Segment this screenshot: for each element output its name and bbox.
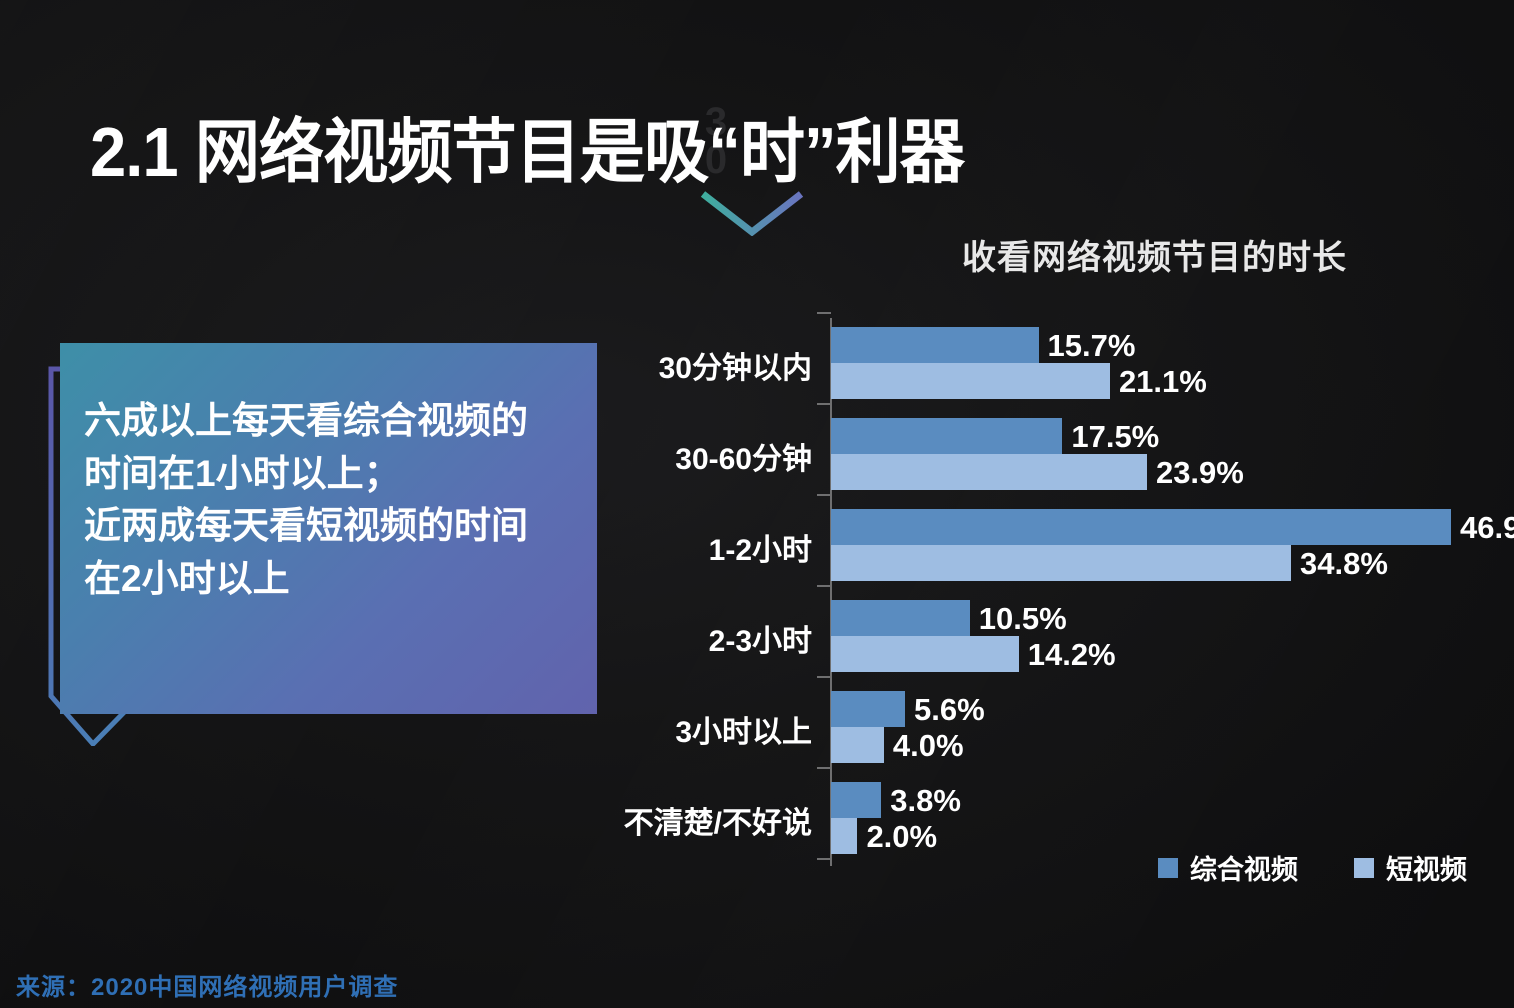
callout-text: 六成以上每天看综合视频的 时间在1小时以上； 近两成每天看短视频的时间 在2小时… — [84, 395, 584, 605]
chart-axis-tick — [817, 494, 831, 496]
chart-bar — [831, 363, 1110, 399]
chart-axis-tick — [817, 403, 831, 405]
chart-axis-tick — [817, 767, 831, 769]
chart-category-label: 30-60分钟 — [552, 434, 812, 478]
chart-legend-item[interactable]: 短视频 — [1354, 848, 1467, 887]
slide-canvas: 30 2.1 网络视频节目是吸“时”利器 六成以上每天看综合视频的 时间在1小时… — [0, 0, 1514, 1008]
legend-swatch-icon — [1354, 858, 1374, 878]
chart-category-label: 1-2小时 — [552, 525, 812, 569]
chart-bar-value-label: 10.5% — [979, 603, 1067, 634]
chart-axis-tick — [817, 858, 831, 860]
bar-chart: 30分钟以内15.7%21.1%30-60分钟17.5%23.9%1-2小时46… — [630, 318, 1510, 866]
chart-bar — [831, 600, 970, 636]
chart-bar — [831, 418, 1062, 454]
chart-bar-value-label: 34.8% — [1300, 548, 1388, 579]
chart-bar-value-label: 4.0% — [893, 730, 964, 761]
chart-legend-item[interactable]: 综合视频 — [1158, 848, 1298, 887]
chart-bar-value-label: 5.6% — [914, 694, 985, 725]
chart-bar — [831, 327, 1039, 363]
chart-bar-value-label: 14.2% — [1028, 639, 1116, 670]
chart-legend: 综合视频短视频 — [1158, 848, 1467, 887]
chart-bar — [831, 727, 884, 763]
chart-bar — [831, 509, 1451, 545]
legend-label: 综合视频 — [1190, 848, 1298, 887]
chart-bar-value-label: 17.5% — [1071, 421, 1159, 452]
legend-label: 短视频 — [1386, 848, 1467, 887]
chart-title: 收看网络视频节目的时长 — [962, 230, 1347, 279]
chart-axis-tick — [817, 585, 831, 587]
chart-bar-value-label: 15.7% — [1048, 330, 1136, 361]
chart-bar — [831, 636, 1019, 672]
chart-bar-value-label: 23.9% — [1156, 457, 1244, 488]
chart-category-label: 30分钟以内 — [552, 343, 812, 387]
title-chevron-icon — [700, 190, 804, 236]
chart-category-label: 3小时以上 — [552, 707, 812, 751]
chart-bar — [831, 782, 881, 818]
page-title: 2.1 网络视频节目是吸“时”利器 — [90, 117, 964, 187]
chart-category-label: 2-3小时 — [552, 616, 812, 660]
chart-category-label: 不清楚/不好说 — [552, 798, 812, 842]
chart-bar — [831, 818, 857, 854]
chart-bar — [831, 545, 1291, 581]
legend-swatch-icon — [1158, 858, 1178, 878]
chart-bar-value-label: 2.0% — [866, 821, 937, 852]
chart-bar-value-label: 21.1% — [1119, 366, 1207, 397]
chart-bar-value-label: 46.9% — [1460, 512, 1514, 543]
chart-bar — [831, 691, 905, 727]
chart-axis-tick — [817, 312, 831, 314]
chart-bar-value-label: 3.8% — [890, 785, 961, 816]
chart-axis-tick — [817, 676, 831, 678]
source-footnote: 来源：2020中国网络视频用户调查 — [16, 967, 398, 1002]
chart-bar — [831, 454, 1147, 490]
